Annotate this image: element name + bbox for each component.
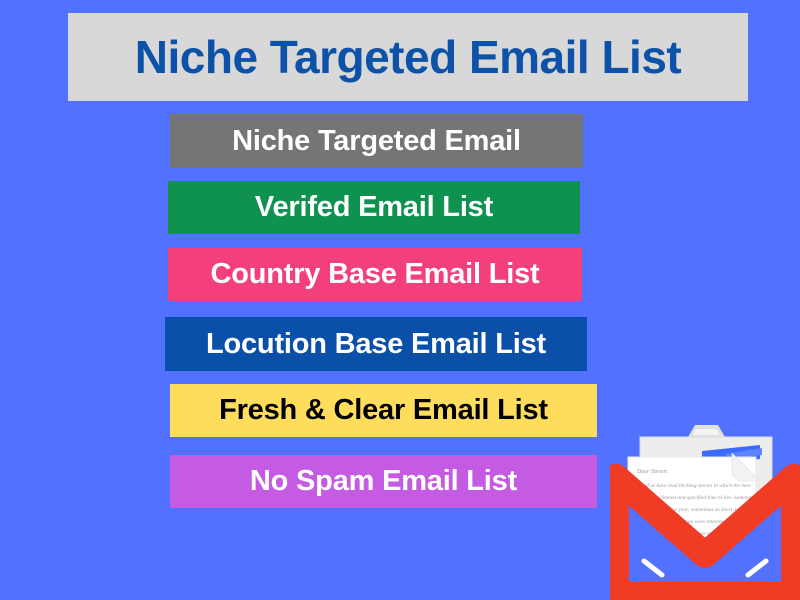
feature-bar-country-base-email-list[interactable]: Country Base Email List [168, 248, 582, 301]
feature-bar-label: Fresh & Clear Email List [219, 396, 548, 425]
feature-bar-fresh-and-clear-email-list[interactable]: Fresh & Clear Email List [170, 384, 597, 437]
feature-bar-label: No Spam Email List [250, 467, 517, 496]
feature-bar-verified-email-list[interactable]: Verifed Email List [168, 181, 580, 234]
letter-salutation: Dear Steven: [636, 469, 669, 475]
feature-bar-label: Locution Base Email List [206, 330, 546, 359]
feature-bar-label: Niche Targeted Email [232, 127, 521, 156]
feature-bar-niche-targeted-email[interactable]: Niche Targeted Email [170, 114, 583, 168]
envelope-icon: Dear Steven: All of us have read thrilli… [610, 415, 800, 600]
page-title: Niche Targeted Email List [135, 34, 681, 80]
feature-bar-no-spam-email-list[interactable]: No Spam Email List [170, 455, 597, 508]
feature-bar-location-base-email-list[interactable]: Locution Base Email List [165, 317, 587, 371]
letter-line: All of us have read thrilling stories in… [636, 482, 751, 489]
feature-bar-label: Country Base Email List [211, 260, 540, 289]
page-title-banner: Niche Targeted Email List [68, 13, 748, 101]
poster-canvas: Niche Targeted Email List Niche Targeted… [0, 0, 800, 600]
feature-bar-label: Verifed Email List [255, 193, 493, 222]
